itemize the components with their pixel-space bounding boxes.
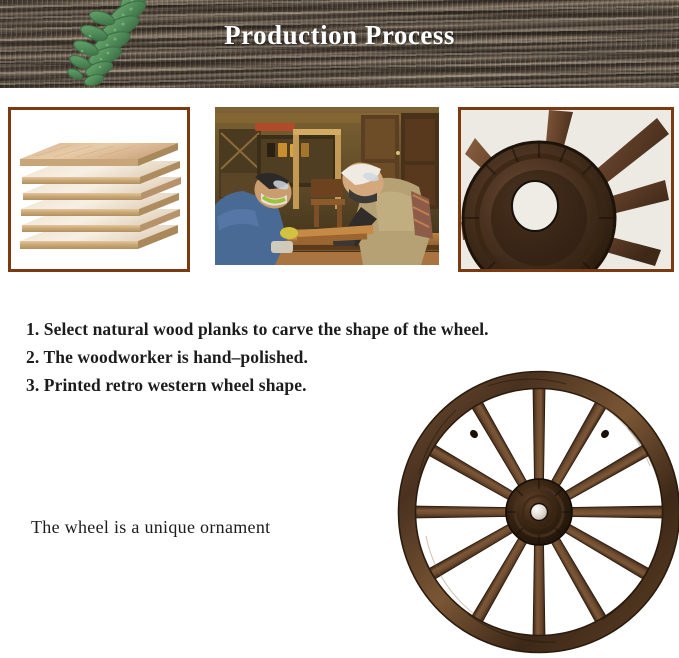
wagon-wheel-image [396,366,679,658]
page-title: Production Process [0,20,679,51]
wheel-hub-illustration [461,110,671,269]
workshop-scene-illustration [215,107,439,265]
ornament-caption: The wheel is a unique ornament [31,517,270,538]
woodworkers-photo [215,107,439,265]
wheel-hub-photo [458,107,674,272]
wood-planks-photo [8,107,190,272]
plank-stack-illustration [14,125,184,255]
mounting-hole [468,428,479,439]
step-line: 1. Select natural wood planks to carve t… [26,315,666,343]
header-banner: Production Process [0,0,679,88]
photo-strip [0,107,679,272]
mounting-hole [599,428,610,439]
